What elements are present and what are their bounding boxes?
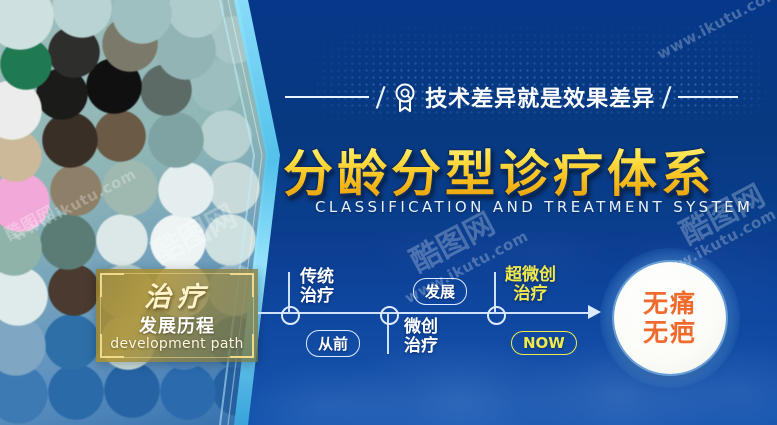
page-subtitle: CLASSIFICATION AND TREATMENT SYSTEM xyxy=(315,198,735,216)
tagline-slash-right: / xyxy=(662,84,672,111)
timeline-node-2[interactable] xyxy=(380,306,399,325)
timeline-caption-2-line1: 微创 xyxy=(404,318,438,337)
tagline-rule-left xyxy=(285,96,369,98)
tagline-slash-left: / xyxy=(376,84,386,111)
timeline-caption-3: 超微创 治疗 xyxy=(505,266,556,304)
timeline-node-3[interactable] xyxy=(487,306,506,325)
timeline-caption-3-line2: 治疗 xyxy=(505,285,556,304)
timeline-pill-3[interactable]: NOW xyxy=(511,331,577,355)
banner-canvas: 酷图网 / 技术差异就是效果差异 / 分龄分型诊疗体系 CLASSI xyxy=(0,0,777,425)
timeline-pill-2[interactable]: 发展 xyxy=(413,278,467,305)
timeline-caption-2-line2: 治疗 xyxy=(404,337,438,356)
timeline-caption-1: 传统 治疗 xyxy=(300,268,334,306)
development-path-badge: 治疗 发展历程 development path xyxy=(96,269,258,362)
tagline: / 技术差异就是效果差异 / xyxy=(285,76,705,118)
result-line-2: 无疤 xyxy=(643,318,697,347)
timeline-caption-1-line1: 传统 xyxy=(300,268,334,287)
medal-rosette-icon xyxy=(392,82,418,112)
timeline-caption-2: 微创 治疗 xyxy=(404,318,438,356)
timeline-node-1[interactable] xyxy=(281,306,300,325)
badge-en-label: development path xyxy=(96,336,258,352)
timeline-caption-3-line1: 超微创 xyxy=(505,266,556,285)
page-title: 分龄分型诊疗体系 xyxy=(283,134,753,206)
tagline-rule-right xyxy=(678,96,738,98)
badge-cn-label: 发展历程 xyxy=(96,312,258,338)
result-line-1: 无痛 xyxy=(643,289,697,318)
timeline-caption-1-line2: 治疗 xyxy=(300,287,334,306)
badge-script-text: 治疗 xyxy=(96,275,258,314)
result-circle[interactable]: 无痛 无疤 xyxy=(614,262,726,374)
timeline-axis xyxy=(258,312,592,314)
tagline-text: 技术差异就是效果差异 xyxy=(425,81,655,113)
timeline-pill-1[interactable]: 从前 xyxy=(306,330,360,357)
